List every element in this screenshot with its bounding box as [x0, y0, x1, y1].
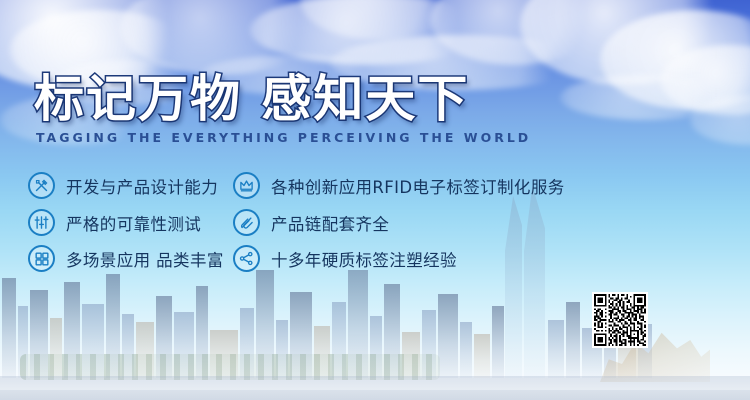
feature-item-experience: 十多年硬质标签注塑经验	[233, 245, 457, 272]
qr-code[interactable]	[592, 292, 648, 348]
feature-label: 十多年硬质标签注塑经验	[271, 247, 457, 271]
grid-icon	[28, 245, 55, 272]
feature-label: 产品链配套齐全	[271, 211, 389, 235]
share-icon	[233, 245, 260, 272]
design-tools-icon	[28, 172, 55, 199]
crown-icon	[233, 172, 260, 199]
feature-label: 严格的可靠性测试	[66, 211, 201, 235]
feature-item-design: 开发与产品设计能力	[28, 172, 218, 199]
promo-banner: 标记万物 感知天下 TAGGING THE EVERYTHING PERCEIV…	[0, 0, 750, 400]
qr-code-graphic	[594, 294, 646, 346]
feature-item-applications: 多场景应用 品类丰富	[28, 245, 224, 272]
feature-item-reliability: 严格的可靠性测试	[28, 209, 201, 236]
feature-label: 各种创新应用RFID电子标签订制化服务	[271, 174, 565, 198]
paperclip-icon	[233, 209, 260, 236]
feature-item-supply-chain: 产品链配套齐全	[233, 209, 389, 236]
sliders-icon	[28, 209, 55, 236]
feature-label: 多场景应用 品类丰富	[66, 247, 224, 271]
feature-label: 开发与产品设计能力	[66, 174, 218, 198]
feature-item-rfid-service: 各种创新应用RFID电子标签订制化服务	[233, 172, 565, 199]
